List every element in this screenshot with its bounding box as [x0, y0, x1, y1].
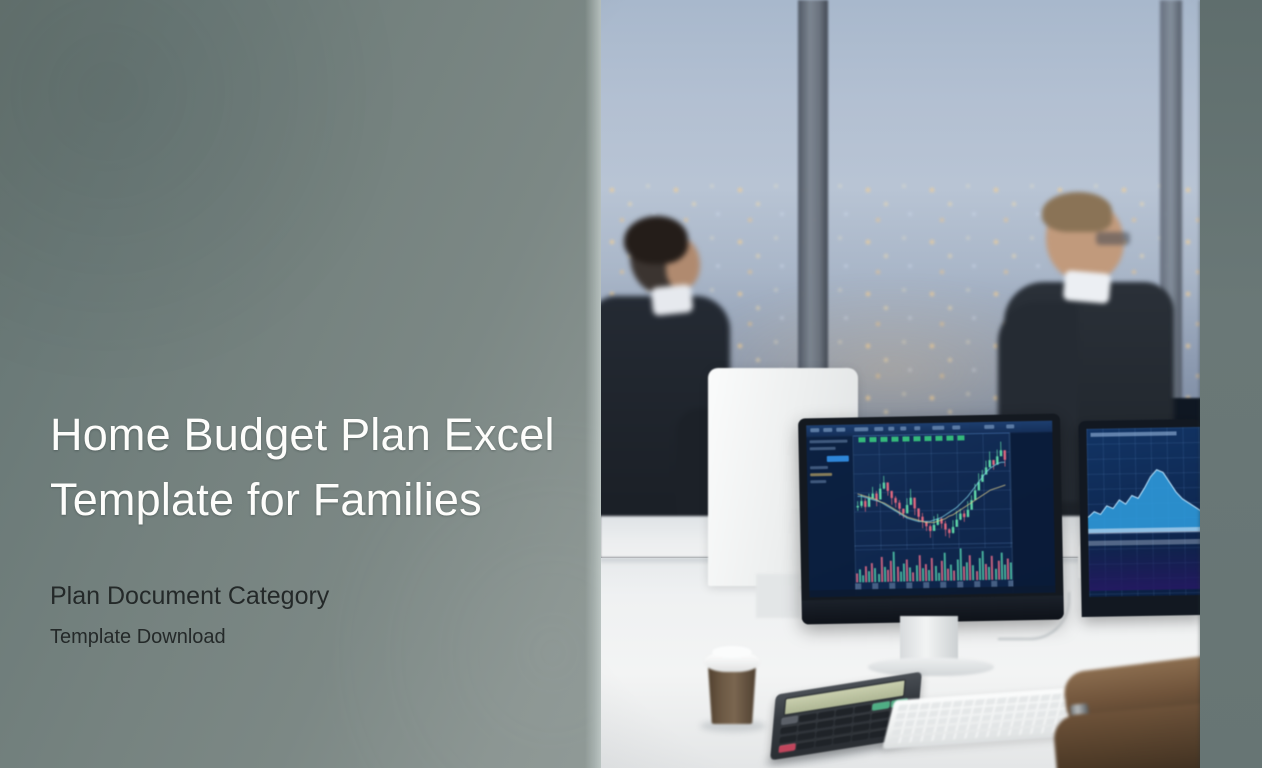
monitor-base	[868, 658, 994, 676]
office-chair	[1055, 648, 1202, 768]
monitor-stand	[900, 616, 958, 664]
glasses	[1096, 232, 1130, 245]
background-photo	[600, 0, 1202, 768]
coffee-cup	[704, 644, 760, 730]
secondary-screen	[1086, 427, 1202, 597]
screen-left-panel	[806, 435, 856, 597]
trading-screen	[806, 421, 1055, 598]
title-line-1: Home Budget Plan Excel	[50, 409, 555, 460]
right-frosted-bar	[1200, 0, 1262, 768]
monitor-stand	[756, 574, 800, 618]
title-text-block: Home Budget Plan Excel Template for Fami…	[50, 402, 570, 650]
subtitle: Plan Document Category	[50, 580, 570, 612]
volume-histogram	[854, 542, 1013, 582]
caption: Template Download	[50, 624, 570, 650]
title-line-2: Template for Families	[50, 474, 482, 525]
secondary-monitor	[1078, 419, 1202, 617]
presentation-slide: Home Budget Plan Excel Template for Fami…	[0, 0, 1262, 768]
title-panel	[0, 0, 601, 768]
candlestick-chart	[852, 432, 1012, 550]
page-title: Home Budget Plan Excel Template for Fami…	[50, 402, 570, 532]
screen-right-panel	[1009, 432, 1055, 594]
